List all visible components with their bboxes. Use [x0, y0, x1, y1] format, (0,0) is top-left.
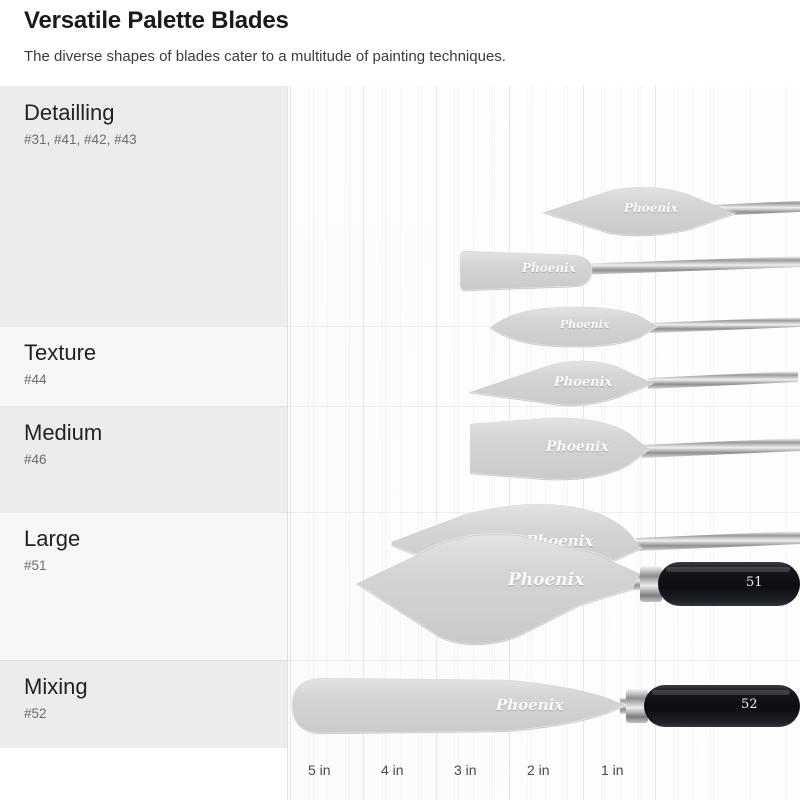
category-codes: #52 [24, 705, 88, 722]
category-name: Medium [24, 420, 102, 446]
category-codes: #44 [24, 371, 96, 388]
category-label-mixing[interactable]: Mixing#52 [24, 674, 88, 722]
category-codes: #46 [24, 451, 102, 468]
blade-42-graphic [490, 304, 800, 352]
blade-41[interactable]: Phoenix [460, 241, 800, 299]
blade-51-graphic [340, 526, 800, 660]
page-subtitle: The diverse shapes of blades cater to a … [24, 48, 506, 65]
ruler-tick-2-in: 2 in [527, 762, 550, 778]
handle-number-52: 52 [741, 697, 758, 712]
category-label-large[interactable]: Large#51 [24, 526, 80, 574]
palette-blades-infographic: Versatile Palette Blades The diverse sha… [0, 0, 800, 800]
blade-43[interactable]: Phoenix [468, 356, 798, 412]
category-name: Large [24, 526, 80, 552]
blade-52-graphic [290, 666, 800, 746]
blade-51[interactable]: Phoenix51 [340, 526, 800, 660]
ruler-tick-3-in: 3 in [454, 762, 477, 778]
label-column-separator [287, 86, 288, 800]
ruler-tick-5-in: 5 in [308, 762, 331, 778]
category-codes: #51 [24, 557, 80, 574]
ruler-tick-4-in: 4 in [381, 762, 404, 778]
category-name: Detailling [24, 100, 137, 126]
blade-31-graphic [540, 182, 800, 242]
blade-41-graphic [460, 241, 800, 299]
header: Versatile Palette Blades The diverse sha… [0, 0, 800, 86]
category-codes: #31, #41, #42, #43 [24, 131, 137, 148]
ruler-axis: 5 in4 in3 in2 in1 in [0, 748, 800, 800]
blade-43-graphic [468, 356, 798, 412]
blade-comparison-chart: Phoenix Phoenix [0, 86, 800, 800]
category-label-medium[interactable]: Medium#46 [24, 420, 102, 468]
blade-31[interactable]: Phoenix [540, 182, 800, 242]
blade-42[interactable]: Phoenix [490, 304, 800, 352]
category-label-column: Detailling#31, #41, #42, #43Texture#44Me… [0, 86, 287, 800]
category-name: Texture [24, 340, 96, 366]
category-label-texture[interactable]: Texture#44 [24, 340, 96, 388]
category-label-detailling[interactable]: Detailling#31, #41, #42, #43 [24, 100, 137, 148]
page-title: Versatile Palette Blades [24, 7, 289, 35]
blade-44-graphic [470, 412, 800, 492]
category-name: Mixing [24, 674, 88, 700]
blade-52[interactable]: Phoenix52 [290, 666, 800, 746]
blade-44[interactable]: Phoenix [470, 412, 800, 492]
ruler-tick-1-in: 1 in [601, 762, 624, 778]
handle-number-51: 51 [746, 575, 763, 590]
